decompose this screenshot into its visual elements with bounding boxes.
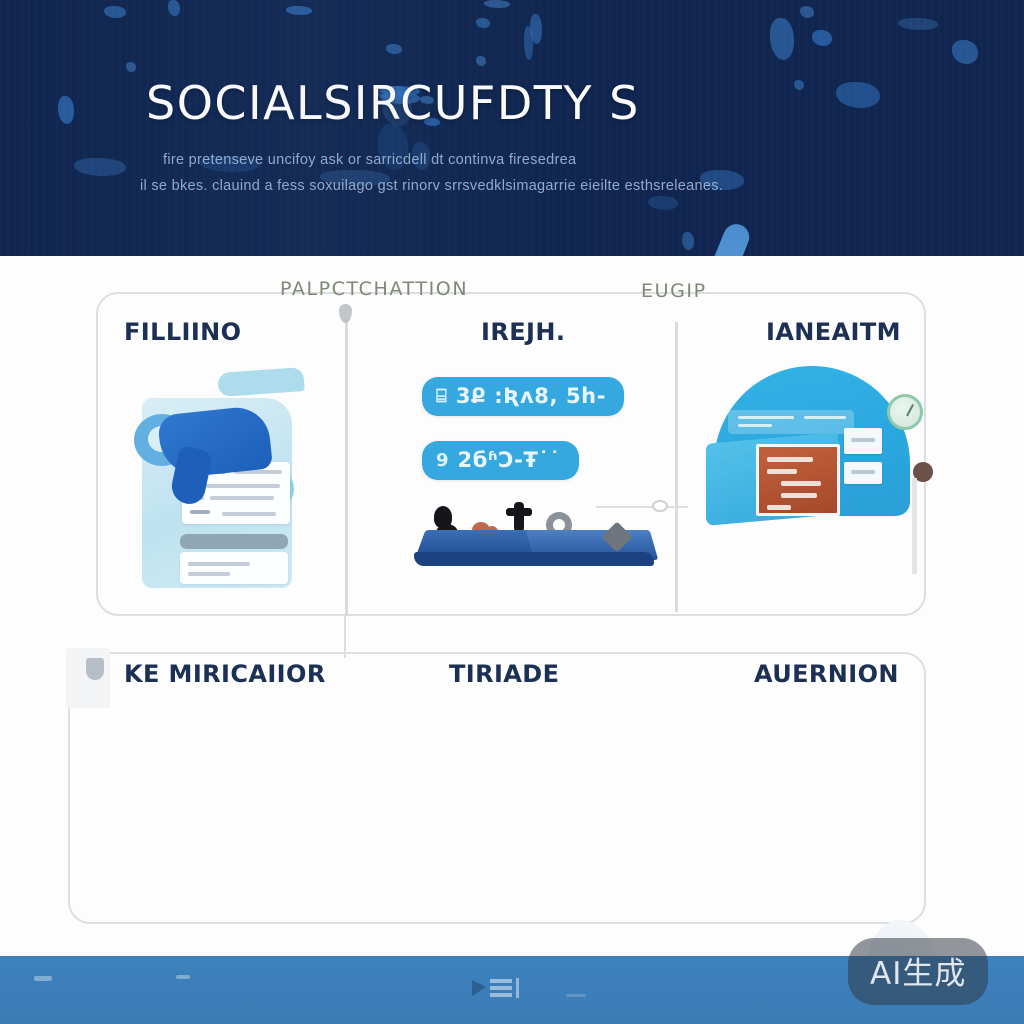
document-text-line [188, 562, 250, 566]
decorative-blob [168, 0, 180, 16]
flow-connector-stem [675, 322, 678, 612]
stage-label-filliino: FILLIINO [124, 318, 241, 346]
document-fold-shape [217, 367, 304, 397]
stage-label-auernion: AUERNION [754, 660, 899, 688]
footer-triangle-icon [472, 980, 486, 996]
decorative-blob [126, 62, 136, 72]
archive-document-line [781, 493, 817, 498]
stage-label-ke-miricaiior: KE MIRICAIIOR [124, 660, 326, 688]
decorative-card-fragment [66, 648, 110, 708]
document-text-line [210, 496, 274, 500]
archive-tag-line [851, 470, 875, 474]
decorative-blob [794, 80, 804, 90]
archive-document-line [767, 457, 813, 462]
document-text-line [222, 512, 276, 516]
book-figure-dark [506, 508, 532, 516]
decorative-blob [952, 40, 978, 64]
decorative-blob [836, 82, 880, 108]
archive-document-line [767, 505, 791, 510]
book-gem-shape [601, 521, 632, 552]
book-figure-dark [514, 502, 524, 532]
decorative-card-mark [86, 658, 104, 680]
book-gem-wrapper [606, 526, 628, 548]
decorative-blob [898, 18, 938, 30]
document-card-lower [180, 552, 288, 584]
footer-decorative-mark [566, 994, 586, 997]
connector-label-eugip: EUGIP [641, 280, 707, 302]
decorative-blob [812, 30, 832, 46]
illustration-book [410, 486, 660, 596]
decorative-blob [74, 158, 126, 176]
illustration-archive [700, 366, 925, 536]
flow-connector-segment [344, 656, 346, 658]
decorative-blob [286, 6, 312, 15]
archive-document-line [767, 469, 797, 474]
flow-connector-segment [344, 616, 346, 658]
archive-shelf-line [738, 424, 772, 427]
decorative-blob [58, 96, 74, 124]
book-base-shape [414, 552, 654, 566]
stage-label-irejh: IREJH. [481, 318, 565, 346]
decorative-blob [476, 56, 486, 66]
ai-generated-watermark: AI生成 [848, 938, 988, 1005]
decorative-blob [104, 6, 126, 18]
pill-label: 2бʱƆ-Ŧ˙˙ [458, 448, 561, 472]
document-highlight-bar [180, 534, 288, 549]
connector-label-palpctchattion: PALPCTCHATTION [280, 278, 468, 300]
archive-gauge-needle [906, 404, 914, 416]
metric-pill-primary[interactable]: ⌸ 3Ք :Ʀʌ8, 5h- [422, 377, 624, 416]
decorative-blob [476, 18, 490, 28]
archive-tag-lower [844, 462, 882, 484]
illustration-document [130, 366, 320, 596]
header-subtitle-line-2: il se bkes. clauind a fess soxuilago gst… [140, 178, 723, 194]
archive-tag-line [851, 438, 875, 442]
header-subtitle-line-1: fire pretenseve uncifoy ask or sarricdel… [163, 152, 576, 168]
decorative-blob [682, 232, 694, 250]
decorative-blob [648, 196, 678, 210]
document-text-line [206, 484, 280, 488]
archive-shelf-shape [728, 410, 854, 434]
infographic-canvas: PALPCTCHATTION EUGIP FILLIINO IREJH. ⌸ 3… [0, 256, 1024, 956]
archive-document-shape [756, 444, 840, 516]
decorative-blob [386, 44, 402, 54]
archive-document-line [781, 481, 821, 486]
decorative-blob [800, 6, 814, 18]
archive-shelf-line [738, 416, 794, 419]
pill-label: 3Ք :Ʀʌ8, 5h- [456, 384, 606, 408]
footer-glyph-icon [472, 978, 519, 998]
header-banner: SOCIALSIRCUFDTY S fire pretenseve uncifo… [0, 0, 1024, 256]
footer-pipe-icon [516, 978, 519, 998]
footer-decorative-mark [176, 975, 190, 979]
pill-glyph-icon: ὜9 [436, 450, 449, 471]
decorative-blob [524, 26, 533, 60]
archive-tag-upper [844, 428, 882, 454]
decorative-streak [697, 220, 753, 256]
footer-bars-icon [490, 979, 512, 997]
document-text-line [190, 510, 210, 514]
stage-label-ianeaitm: IANEAITM [766, 318, 901, 346]
pill-glyph-icon: ⌸ [436, 386, 447, 407]
decorative-blob [770, 18, 794, 60]
document-text-line [188, 572, 230, 576]
archive-shelf-line [804, 416, 846, 419]
page-title: SOCIALSIRCUFDTY S [146, 76, 640, 130]
flow-connector-stem [345, 318, 348, 616]
metric-pill-secondary[interactable]: ὜9 2бʱƆ-Ŧ˙˙ [422, 441, 579, 480]
decorative-blob [484, 0, 510, 8]
archive-post-shape [912, 478, 917, 574]
stage-label-tiriade: TIRIADE [449, 660, 559, 688]
flow-connector-path [68, 652, 926, 924]
archive-gauge-icon [887, 394, 923, 430]
footer-decorative-mark [34, 976, 52, 981]
